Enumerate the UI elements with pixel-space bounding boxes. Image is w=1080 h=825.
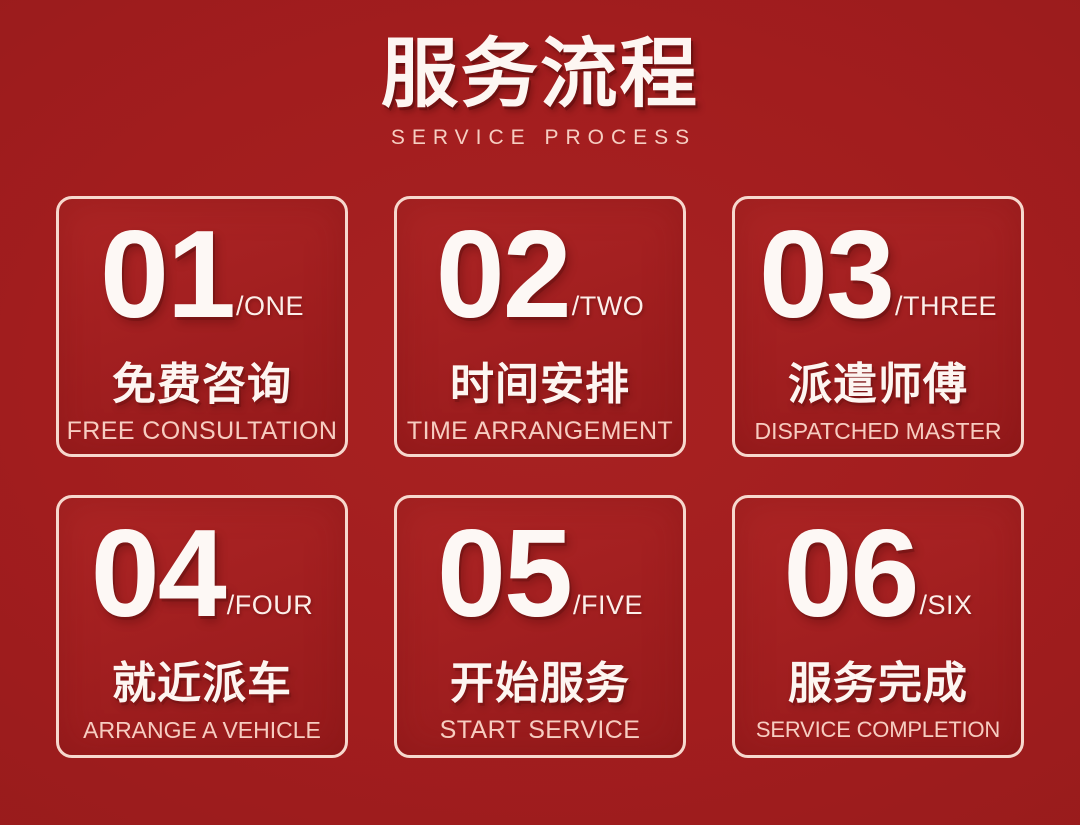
step-label-en: DISPATCHED MASTER — [754, 417, 1001, 445]
step-card-02: 02 /TWO 时间安排 TIME ARRANGEMENT — [394, 196, 686, 457]
poster-header: 服务流程 SERVICE PROCESS — [0, 36, 1080, 150]
step-label-cn: 时间安排 — [450, 361, 630, 409]
step-number: 03 — [759, 221, 893, 329]
step-label-en: START SERVICE — [440, 716, 641, 744]
step-card-01: 01 /ONE 免费咨询 FREE CONSULTATION — [56, 196, 348, 457]
step-number-word: /FIVE — [573, 592, 643, 619]
step-number: 06 — [784, 520, 918, 628]
step-number: 02 — [436, 221, 570, 329]
step-number-row: 05 /FIVE — [415, 520, 665, 628]
step-number-row: 02 /TWO — [415, 221, 665, 329]
step-number: 01 — [100, 221, 234, 329]
step-number-row: 04 /FOUR — [77, 520, 327, 628]
step-number: 04 — [91, 520, 225, 628]
step-card-03: 03 /THREE 派遣师傅 DISPATCHED MASTER — [732, 196, 1024, 457]
service-process-poster: 服务流程 SERVICE PROCESS 01 /ONE 免费咨询 FREE C… — [0, 0, 1080, 825]
step-label-cn: 派遣师傅 — [788, 361, 968, 409]
step-number-row: 01 /ONE — [77, 221, 327, 329]
step-number: 05 — [437, 520, 571, 628]
step-number-word: /ONE — [236, 293, 304, 320]
step-label-cn: 就近派车 — [112, 660, 292, 708]
step-number-word: /TWO — [572, 293, 644, 320]
step-label-cn: 开始服务 — [450, 660, 630, 708]
step-label-cn: 免费咨询 — [112, 361, 292, 409]
step-card-06: 06 /SIX 服务完成 SERVICE COMPLETION — [732, 495, 1024, 758]
step-number-word: /FOUR — [227, 592, 314, 619]
step-label-cn: 服务完成 — [788, 660, 968, 708]
step-label-en: TIME ARRANGEMENT — [407, 417, 673, 445]
step-number-word: /SIX — [919, 592, 972, 619]
step-label-en: FREE CONSULTATION — [67, 417, 338, 445]
step-card-04: 04 /FOUR 就近派车 ARRANGE A VEHICLE — [56, 495, 348, 758]
step-number-word: /THREE — [895, 293, 997, 320]
steps-grid: 01 /ONE 免费咨询 FREE CONSULTATION 02 /TWO 时… — [56, 196, 1024, 758]
step-number-row: 03 /THREE — [753, 221, 1003, 329]
step-label-en: SERVICE COMPLETION — [756, 716, 1000, 744]
page-title: 服务流程 — [0, 36, 1080, 114]
step-card-05: 05 /FIVE 开始服务 START SERVICE — [394, 495, 686, 758]
step-number-row: 06 /SIX — [753, 520, 1003, 628]
page-subtitle: SERVICE PROCESS — [0, 126, 1080, 150]
step-label-en: ARRANGE A VEHICLE — [83, 716, 321, 744]
